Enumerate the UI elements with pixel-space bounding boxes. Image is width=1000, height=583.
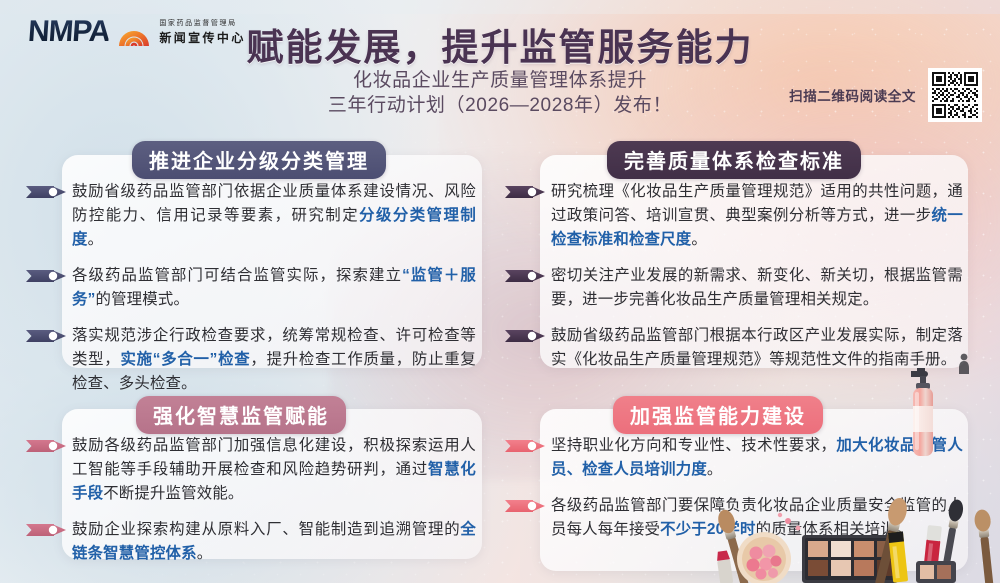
- plain-phrase: 不断提升监管效能。: [103, 485, 243, 502]
- bullet-arrow-icon: [505, 328, 545, 344]
- bullet-item: 研究梳理《化妆品生产质量管理规范》适用的共性问题，通过政策问答、培训宣贯、典型案…: [505, 180, 963, 252]
- plain-phrase: 。: [197, 545, 213, 562]
- page-title: 赋能发展，提升监管服务能力: [0, 17, 1000, 71]
- plain-phrase: 坚持职业化方向和专业性、技术性要求，: [551, 437, 836, 454]
- bullet-arrow-icon: [505, 268, 545, 284]
- bullet-item: 鼓励各级药品监管部门加强信息化建设，积极探索运用人工智能等手段辅助开展检查和风险…: [26, 434, 476, 506]
- bullet-list-top-right: 研究梳理《化妆品生产质量管理规范》适用的共性问题，通过政策问答、培训宣贯、典型案…: [505, 180, 963, 372]
- bullet-item: 密切关注产业发展的新需求、新变化、新关切，根据监管需要，进一步完善化妆品生产质量…: [505, 264, 963, 312]
- bullet-text: 鼓励各级药品监管部门加强信息化建设，积极探索运用人工智能等手段辅助开展检查和风险…: [72, 434, 476, 506]
- card-title-bottom-right: 加强监管能力建设: [613, 396, 823, 434]
- bullet-arrow-icon: [505, 498, 545, 514]
- bullet-text: 鼓励企业探索构建从原料入厂、智能制造到追溯管理的全链条智慧管控体系。: [72, 518, 476, 566]
- plain-phrase: 研究梳理《化妆品生产质量管理规范》适用的共性问题，通过政策问答、培训宣贯、典型案…: [551, 183, 963, 224]
- bullet-arrow-icon: [26, 268, 66, 284]
- bullet-item: 鼓励省级药品监管部门根据本行政区产业发展实际，制定落实《化妆品生产质量管理规范》…: [505, 324, 963, 372]
- card-title-bottom-left: 强化智慧监管赋能: [136, 396, 346, 434]
- bullet-item: 鼓励企业探索构建从原料入厂、智能制造到追溯管理的全链条智慧管控体系。: [26, 518, 476, 566]
- plain-phrase: 密切关注产业发展的新需求、新变化、新关切，根据监管需要，进一步完善化妆品生产质量…: [551, 267, 963, 308]
- plain-phrase: 。: [691, 231, 707, 248]
- bullet-text: 坚持职业化方向和专业性、技术性要求，加大化妆品监管人员、检查人员培训力度。: [551, 434, 963, 482]
- bullet-list-bottom-right: 坚持职业化方向和专业性、技术性要求，加大化妆品监管人员、检查人员培训力度。各级药…: [505, 434, 963, 542]
- bullet-text: 各级药品监管部门要保障负责化妆品企业质量安全监管的人员每人每年接受不少于20学时…: [551, 494, 963, 542]
- bullet-arrow-icon: [26, 184, 66, 200]
- bullet-text: 研究梳理《化妆品生产质量管理规范》适用的共性问题，通过政策问答、培训宣贯、典型案…: [551, 180, 963, 252]
- bullet-arrow-icon: [505, 438, 545, 454]
- plain-phrase: 。: [88, 231, 104, 248]
- card-title-top-right: 完善质量体系检查标准: [607, 141, 861, 179]
- highlighted-phrase: 实施“多合一”检查: [120, 351, 250, 368]
- qr-section[interactable]: 扫描二维码阅读全文: [789, 68, 982, 122]
- card-title-top-left: 推进企业分级分类管理: [132, 141, 386, 179]
- highlighted-phrase: 不少于20学时: [660, 521, 755, 538]
- bullet-item: 各级药品监管部门可结合监管实际，探索建立“监管＋服务”的管理模式。: [26, 264, 476, 312]
- plain-phrase: 的质量体系相关培训。: [756, 521, 912, 538]
- qr-label: 扫描二维码阅读全文: [789, 85, 916, 105]
- plain-phrase: 。: [707, 461, 723, 478]
- bullet-arrow-icon: [505, 184, 545, 200]
- plain-phrase: 鼓励省级药品监管部门根据本行政区产业发展实际，制定落实《化妆品生产质量管理规范》…: [551, 327, 963, 368]
- bullet-text: 密切关注产业发展的新需求、新变化、新关切，根据监管需要，进一步完善化妆品生产质量…: [551, 264, 963, 312]
- bullet-arrow-icon: [26, 522, 66, 538]
- bullet-arrow-icon: [26, 438, 66, 454]
- bullet-text: 各级药品监管部门可结合监管实际，探索建立“监管＋服务”的管理模式。: [72, 264, 476, 312]
- bullet-text: 鼓励省级药品监管部门根据本行政区产业发展实际，制定落实《化妆品生产质量管理规范》…: [551, 324, 963, 372]
- infographic-poster: NMPA 国家药品监督管理局 新闻宣传中心 赋能发展，提升监管服务能力: [0, 0, 1000, 583]
- plain-phrase: 的管理模式。: [96, 291, 190, 308]
- plain-phrase: 鼓励企业探索构建从原料入厂、智能制造到追溯管理的: [72, 521, 460, 538]
- bullet-arrow-icon: [26, 328, 66, 344]
- plain-phrase: 各级药品监管部门可结合监管实际，探索建立: [72, 267, 402, 284]
- bullet-item: 落实规范涉企行政检查要求，统筹常规检查、许可检查等类型，实施“多合一”检查，提升…: [26, 324, 476, 396]
- plain-phrase: 鼓励各级药品监管部门加强信息化建设，积极探索运用人工智能等手段辅助开展检查和风险…: [72, 437, 476, 478]
- bullet-item: 坚持职业化方向和专业性、技术性要求，加大化妆品监管人员、检查人员培训力度。: [505, 434, 963, 482]
- bullet-text: 鼓励省级药品监管部门依据企业质量体系建设情况、风险防控能力、信用记录等要素，研究…: [72, 180, 476, 252]
- qr-code-icon[interactable]: [928, 68, 982, 122]
- bullet-item: 各级药品监管部门要保障负责化妆品企业质量安全监管的人员每人每年接受不少于20学时…: [505, 494, 963, 542]
- bullet-list-top-left: 鼓励省级药品监管部门依据企业质量体系建设情况、风险防控能力、信用记录等要素，研究…: [26, 180, 476, 396]
- bullet-item: 鼓励省级药品监管部门依据企业质量体系建设情况、风险防控能力、信用记录等要素，研究…: [26, 180, 476, 252]
- bullet-text: 落实规范涉企行政检查要求，统筹常规检查、许可检查等类型，实施“多合一”检查，提升…: [72, 324, 476, 396]
- bullet-list-bottom-left: 鼓励各级药品监管部门加强信息化建设，积极探索运用人工智能等手段辅助开展检查和风险…: [26, 434, 476, 566]
